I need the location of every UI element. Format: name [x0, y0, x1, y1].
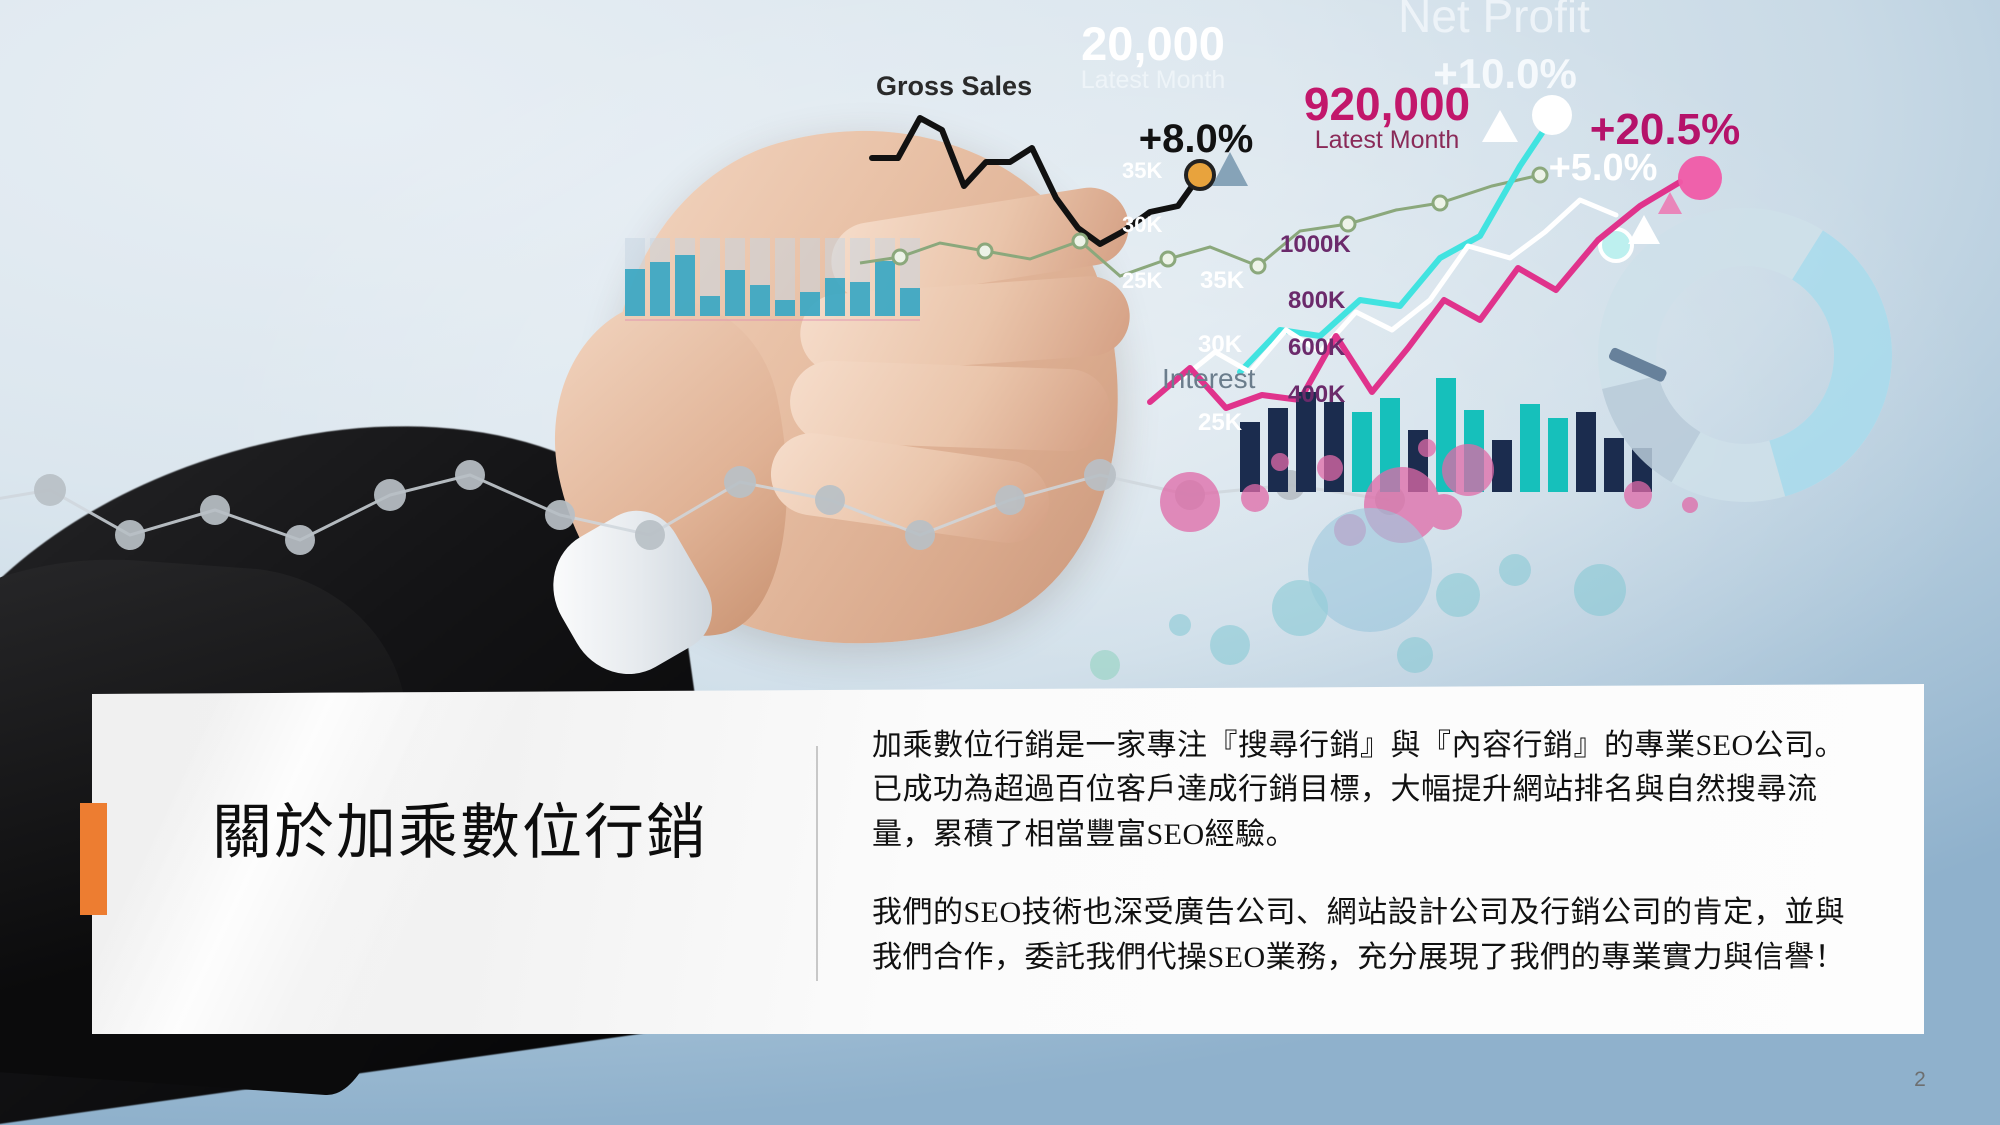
- axis-tick-600k: 600K: [1288, 334, 1346, 361]
- label-interest: Interest: [1162, 363, 1256, 394]
- marker-gross-sales-latest: [1186, 161, 1214, 189]
- marker-magenta-latest: [1678, 156, 1722, 200]
- metric-caption-latest-month-1: Latest Month: [1081, 66, 1226, 94]
- slide: Gross Sales: [0, 0, 2000, 1125]
- label-gross-sales: Gross Sales: [876, 71, 1032, 101]
- page-title: 關於加乘數位行銷: [150, 800, 770, 866]
- axis-tick-35k-mid: 35K: [1200, 267, 1245, 294]
- body-text-block: 加乘數位行銷是一家專注『搜尋行銷』與『內容行銷』的專業SEO公司。已成功為超過百…: [872, 724, 1872, 980]
- metric-value-920000: 920,000: [1304, 78, 1470, 130]
- triangle-up-white-2: [1628, 215, 1660, 244]
- axis-tick-800k: 800K: [1288, 287, 1346, 314]
- axis-tick-25k-left: 25K: [1122, 268, 1162, 293]
- axis-tick-400k: 400K: [1288, 381, 1346, 408]
- metric-value-plus8: +8.0%: [1139, 117, 1254, 161]
- triangle-up-white: [1482, 110, 1518, 142]
- axis-tick-30k-mid: 30K: [1198, 331, 1243, 358]
- body-paragraph-2: 我們的SEO技術也深受廣告公司、網站設計公司及行銷公司的肯定，並與我們合作，委託…: [872, 891, 1872, 980]
- floating-dashboard-graphic: Gross Sales: [0, 0, 2000, 700]
- metric-value-20000: 20,000: [1081, 17, 1225, 70]
- metric-caption-latest-month-2: Latest Month: [1315, 126, 1460, 154]
- label-net-profit: Net Profit: [1398, 0, 1590, 42]
- axis-tick-30k-left: 30K: [1122, 212, 1162, 237]
- vertical-divider: [816, 746, 818, 981]
- marker-cyan-latest: [1532, 95, 1572, 135]
- axis-tick-1000k: 1000K: [1280, 231, 1351, 258]
- body-paragraph-1: 加乘數位行銷是一家專注『搜尋行銷』與『內容行銷』的專業SEO公司。已成功為超過百…: [872, 724, 1872, 857]
- accent-bar: [80, 803, 107, 915]
- page-number: 2: [1900, 1068, 1940, 1092]
- chart-bar-teal: [625, 238, 920, 320]
- metric-value-plus5: +5.0%: [1549, 147, 1658, 189]
- axis-tick-35k-left: 35K: [1122, 158, 1162, 183]
- axis-tick-25k-mid: 25K: [1198, 409, 1243, 436]
